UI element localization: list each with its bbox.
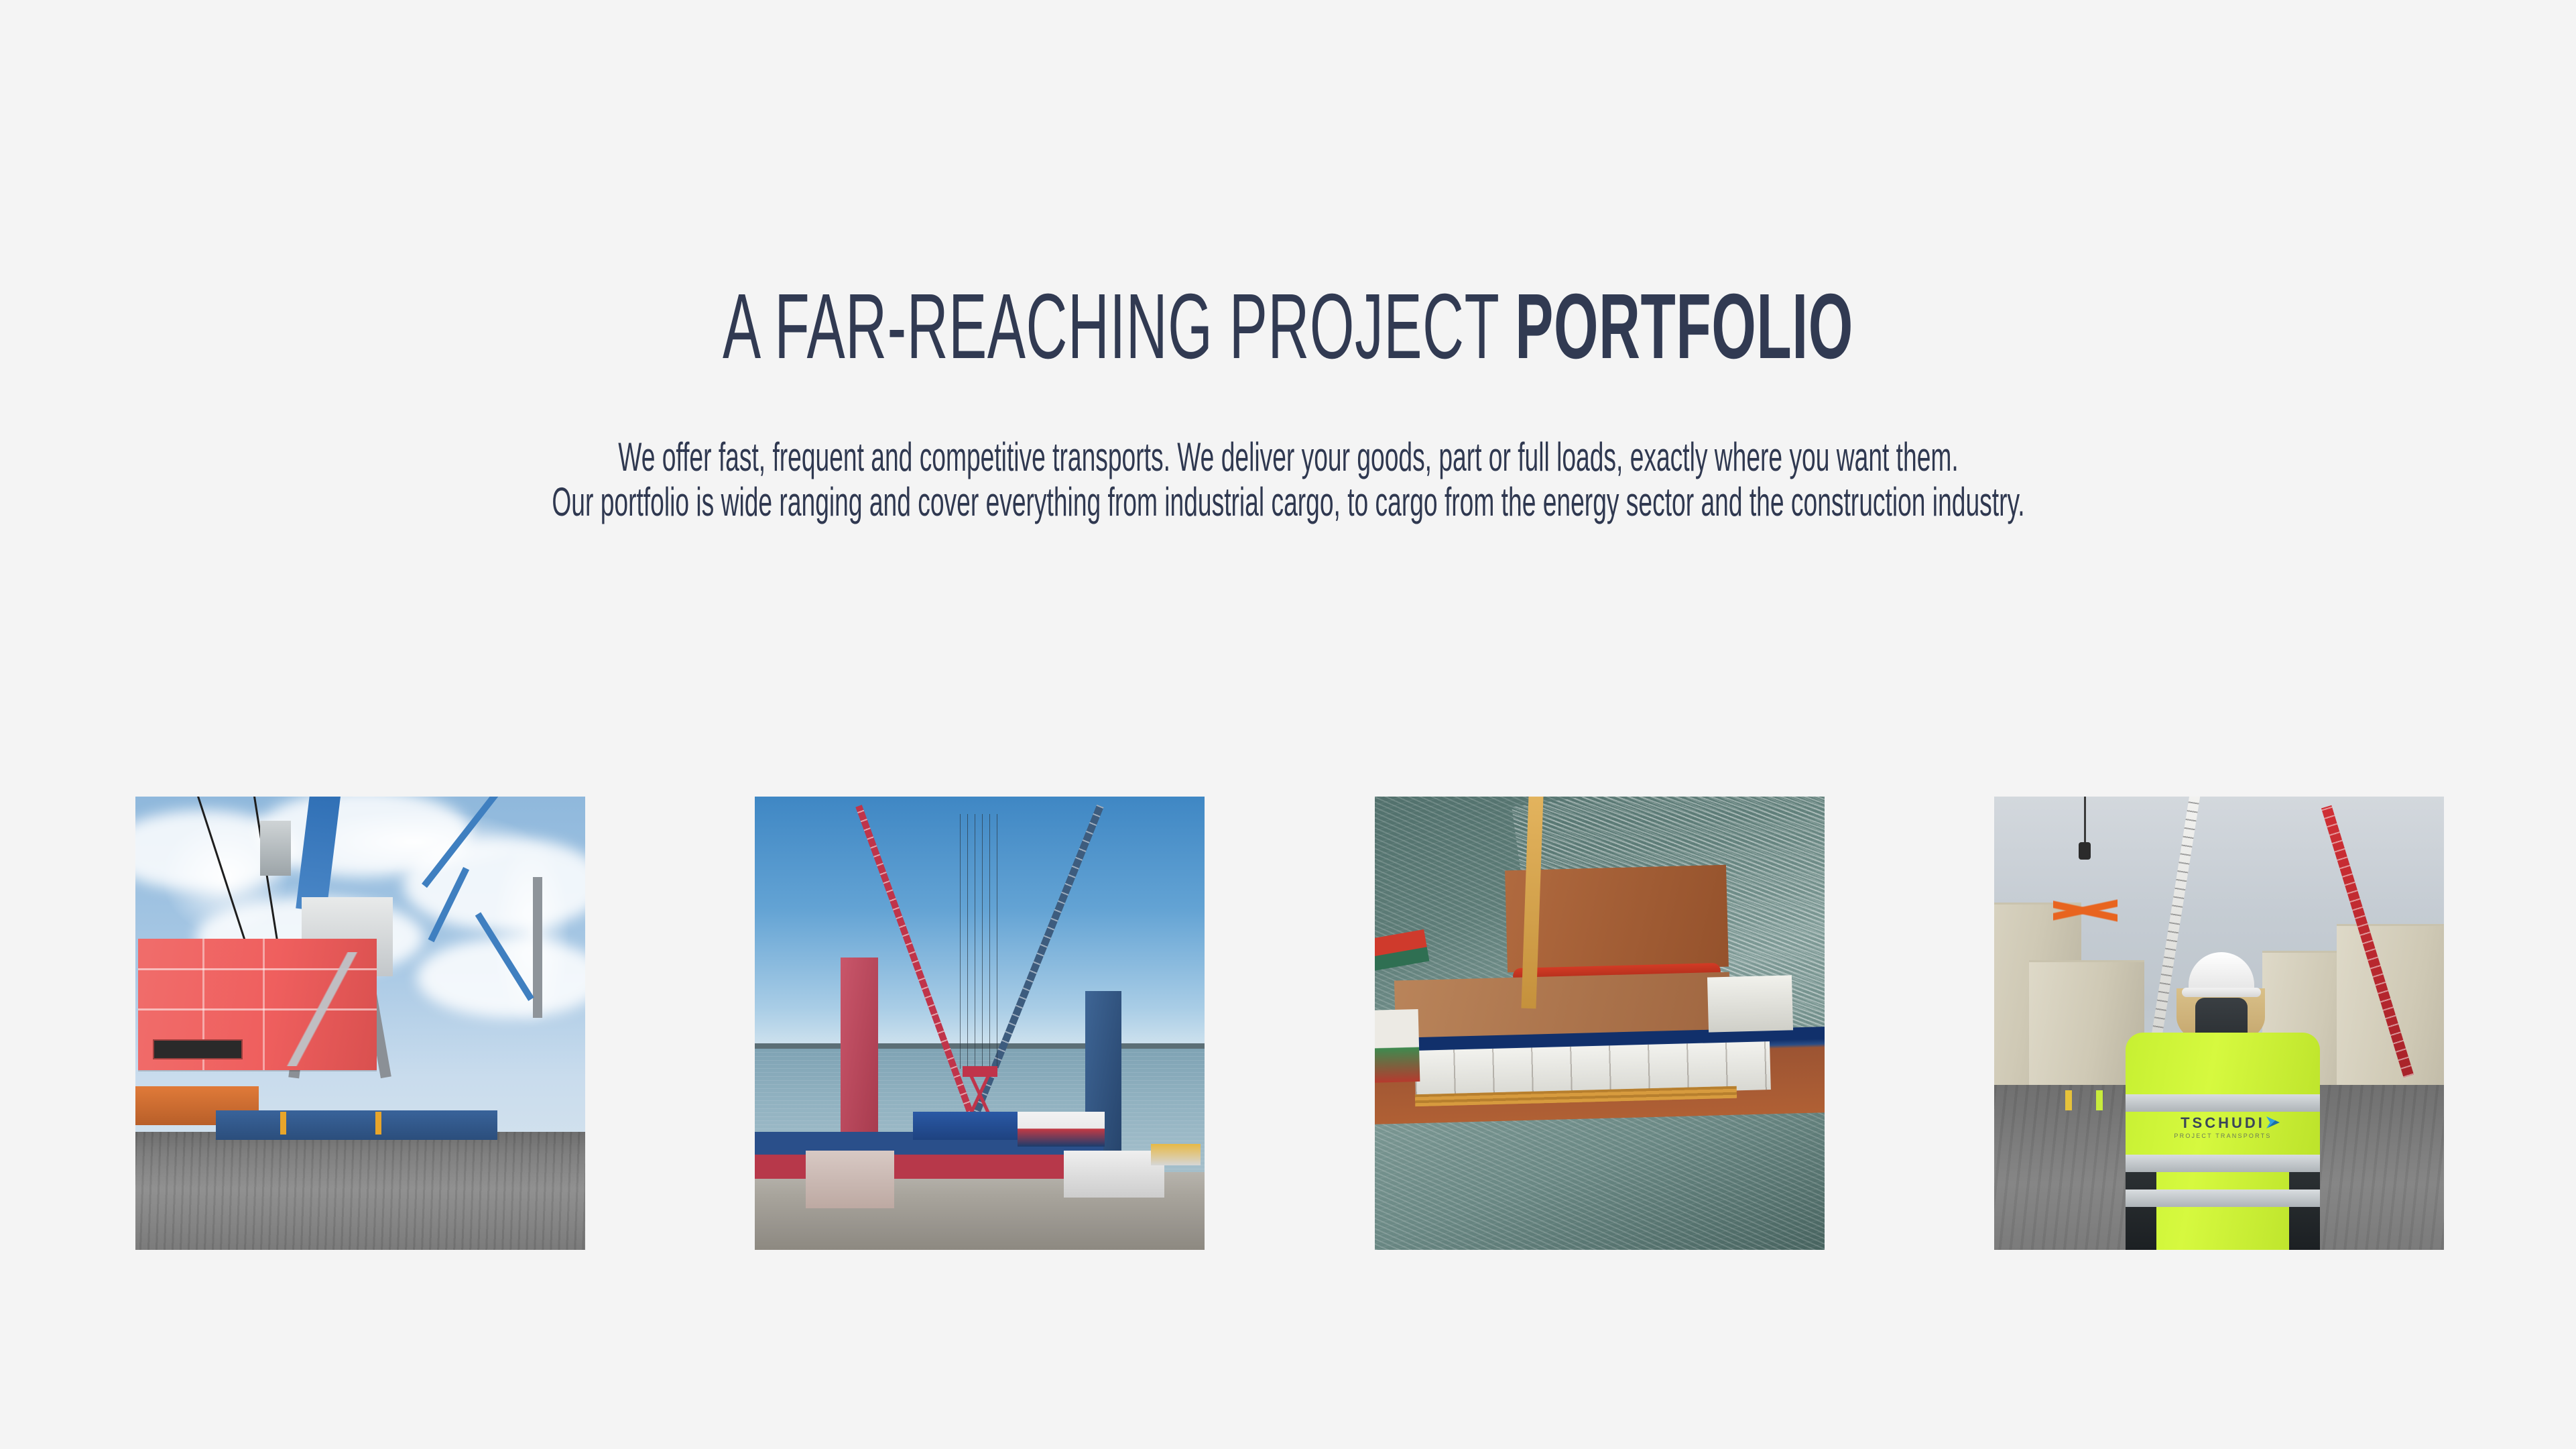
gallery-item-2[interactable]: [755, 797, 1205, 1250]
intro-copy: We offer fast, frequent and competitive …: [307, 434, 2268, 524]
crane-tower-red: [841, 958, 878, 1152]
hoist-rope: [2084, 797, 2086, 845]
crane-base-blue: [1064, 1151, 1164, 1198]
jacket-sleeve: [2126, 1172, 2156, 1250]
tschudi-logo-brand: TSCHUDI: [2167, 1116, 2278, 1131]
reflective-stripe: [2126, 1190, 2320, 1207]
intro-paragraph-2: Our portfolio is wide ranging and cover …: [307, 479, 2268, 524]
tschudi-logo: TSCHUDI PROJECT TRANSPORTS: [2167, 1116, 2278, 1139]
project-gallery: TSCHUDI PROJECT TRANSPORTS: [135, 797, 2444, 1250]
reflective-stripe: [2126, 1155, 2320, 1172]
lifting-beam: [963, 1066, 997, 1077]
spmt-transporter: [216, 1110, 497, 1140]
project-photo-4: TSCHUDI PROJECT TRANSPORTS: [1994, 797, 2444, 1250]
project-photo-2: [755, 797, 1205, 1250]
crane-counterweight: [260, 821, 291, 876]
blue-cargo-unit: [913, 1112, 1027, 1140]
project-photo-1: [135, 797, 585, 1250]
side-cargo: [1375, 1009, 1420, 1083]
orange-lifting-sling: [2053, 857, 2118, 964]
portfolio-section: A FAR-REACHING PROJECT PORTFOLIO We offe…: [0, 0, 2576, 1449]
port-crane-background: [533, 877, 542, 1018]
worker: [375, 1112, 381, 1135]
crane-base-red: [806, 1151, 894, 1208]
worker: [280, 1112, 286, 1135]
module-stairway: [269, 952, 370, 1066]
intro-paragraph-1: We offer fast, frequent and competitive …: [307, 434, 2268, 479]
lifting-cables: [960, 814, 1001, 1069]
lifting-frame: [957, 1077, 1003, 1112]
gallery-item-3[interactable]: [1375, 797, 1825, 1250]
superstructure: [1707, 975, 1793, 1032]
deck-cargo-lower: [1394, 972, 1731, 1039]
safety-helmet-brim: [2182, 988, 2261, 997]
worker-background: [2065, 1090, 2072, 1110]
module-opening: [153, 1039, 243, 1059]
worker-background: [2096, 1090, 2103, 1110]
tschudi-logo-tagline: PROJECT TRANSPORTS: [2167, 1133, 2278, 1139]
reflective-stripe: [2126, 1094, 2320, 1112]
page-title-light: A FAR-REACHING PROJECT: [723, 275, 1515, 378]
tug-boat: [1018, 1112, 1105, 1147]
truck: [1151, 1144, 1201, 1165]
page-title: A FAR-REACHING PROJECT PORTFOLIO: [489, 263, 2087, 390]
page-title-strong: PORTFOLIO: [1515, 275, 1853, 378]
gallery-item-4[interactable]: TSCHUDI PROJECT TRANSPORTS: [1994, 797, 2444, 1250]
gallery-item-1[interactable]: [135, 797, 585, 1250]
quay-ground: [135, 1132, 585, 1250]
project-photo-3: [1375, 797, 1825, 1250]
jacket-sleeve: [2289, 1172, 2320, 1250]
